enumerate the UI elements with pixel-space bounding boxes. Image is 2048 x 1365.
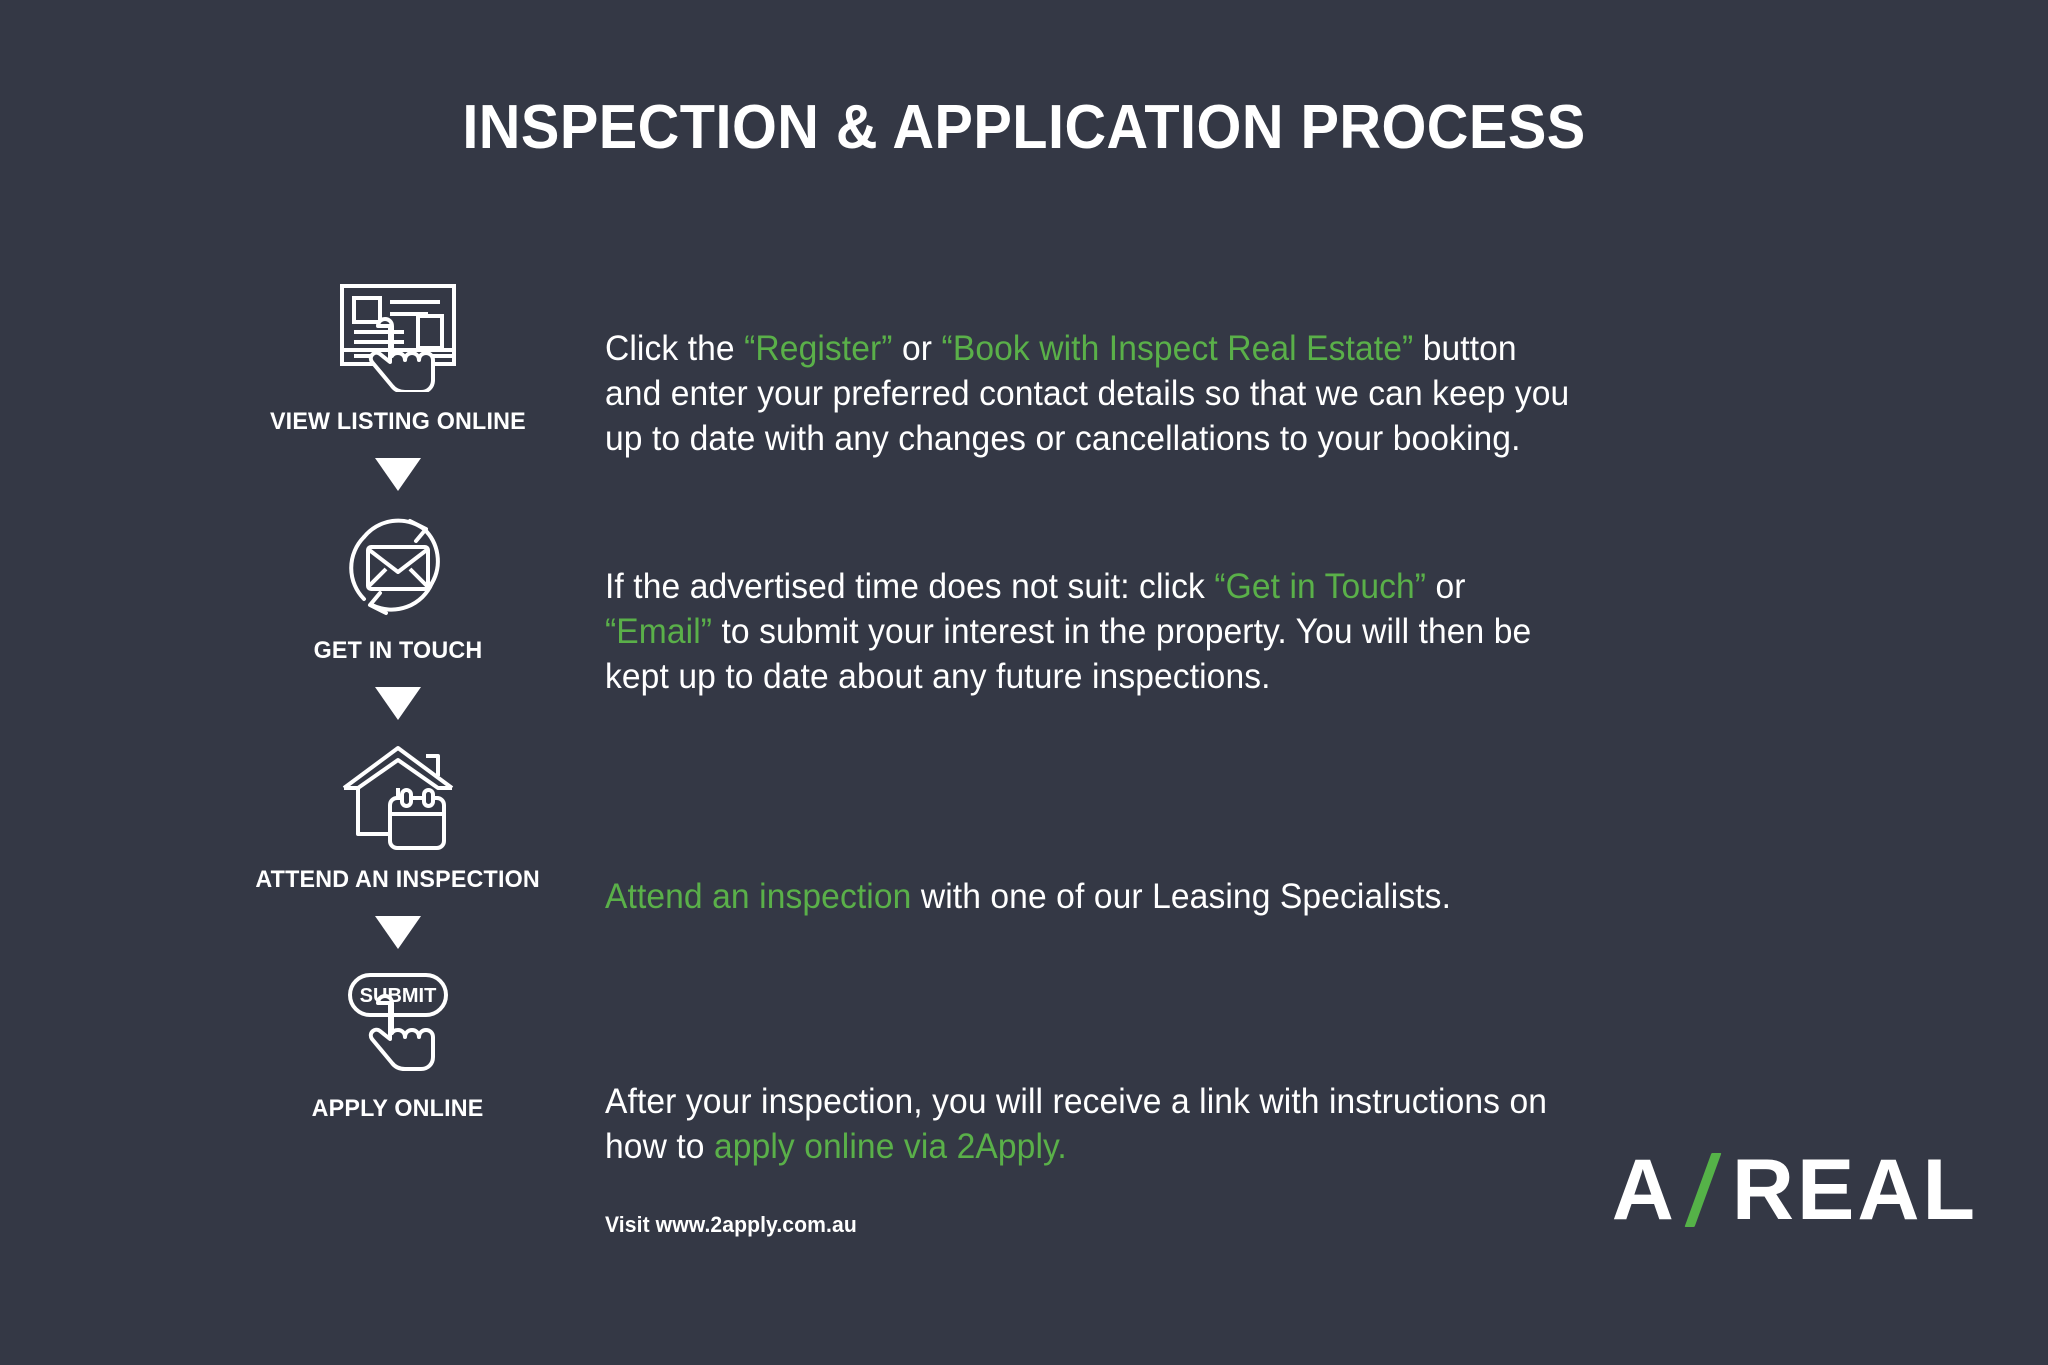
page-title: INSPECTION & APPLICATION PROCESS	[72, 92, 1977, 163]
flow-step-label: APPLY ONLINE	[312, 1095, 484, 1123]
flow-step-label: ATTEND AN INSPECTION	[256, 866, 541, 894]
highlight-text: Attend an inspection	[605, 877, 911, 916]
body-text: Click the	[605, 329, 744, 368]
flow-step-attend-an-inspection: ATTEND AN INSPECTION	[238, 740, 558, 894]
house-calendar-icon	[328, 740, 468, 850]
visit-url-note: Visit www.2apply.com.au	[605, 1212, 1575, 1238]
step-description-apply-online: After your inspection, you will receive …	[605, 1080, 1575, 1170]
body-text: to submit your interest in the property.…	[605, 612, 1531, 696]
logo-letter-a: A	[1612, 1147, 1676, 1233]
highlight-text: “Register”	[744, 329, 892, 368]
submit-icon-label: SUBMIT	[360, 985, 437, 1007]
body-text: or	[1426, 567, 1466, 606]
submit-button-click-icon: SUBMIT	[328, 969, 468, 1079]
listing-page-click-icon	[328, 280, 468, 392]
flow-arrow-down-icon	[375, 687, 421, 720]
body-text: with one of our Leasing Specialists.	[911, 877, 1451, 916]
flow-step-view-listing-online: VIEW LISTING ONLINE	[238, 280, 558, 436]
flow-step-get-in-touch: GET IN TOUCH	[238, 511, 558, 665]
logo-word-real: REAL	[1732, 1147, 1978, 1233]
flow-arrow-down-icon	[375, 916, 421, 949]
highlight-text: apply online via 2Apply.	[714, 1127, 1067, 1166]
highlight-text: “Get in Touch”	[1214, 567, 1426, 606]
flow-arrow-down-icon	[375, 458, 421, 491]
flow-step-label: VIEW LISTING ONLINE	[270, 408, 526, 436]
step-description-attend-an-inspection: Attend an inspection with one of our Lea…	[605, 875, 1575, 920]
step-description-get-in-touch: If the advertised time does not suit: cl…	[605, 565, 1575, 699]
flow-step-apply-online: SUBMIT APPLY ONLINE	[238, 969, 558, 1123]
step-description-view-listing-online: Click the “Register” or “Book with Inspe…	[605, 327, 1575, 461]
body-text: or	[893, 329, 942, 368]
envelope-refresh-icon	[328, 511, 468, 621]
flow-step-label: GET IN TOUCH	[314, 637, 483, 665]
step-description-apply-online-group: After your inspection, you will receive …	[605, 1080, 1615, 1238]
process-flow-column: VIEW LISTING ONLINE GET IN TOUCH	[238, 280, 558, 1123]
highlight-text: “Email”	[605, 612, 712, 651]
highlight-text: “Book with Inspect Real Estate”	[942, 329, 1414, 368]
brand-logo: A REAL	[1612, 1145, 1978, 1235]
logo-slash-icon	[1684, 1153, 1721, 1227]
body-text: If the advertised time does not suit: cl…	[605, 567, 1214, 606]
